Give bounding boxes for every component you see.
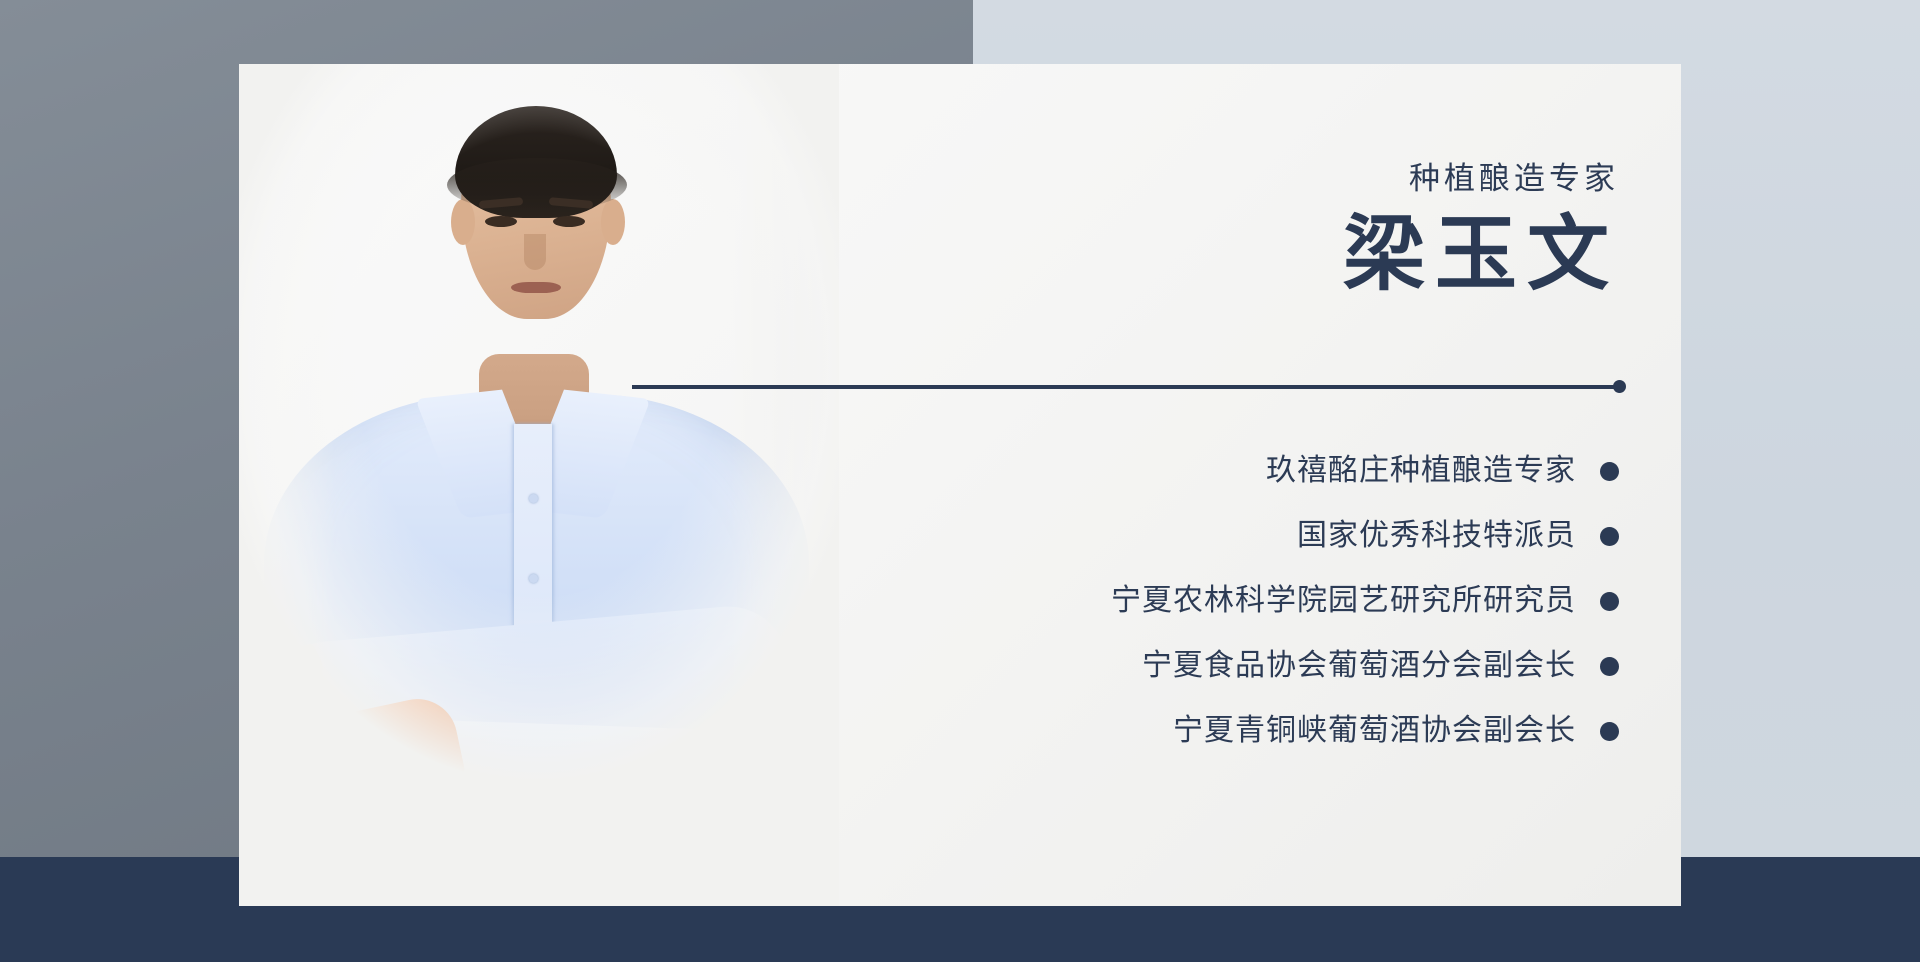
portrait-nose bbox=[524, 234, 546, 270]
banner-stage: 种植酿造专家 梁玉文 玖禧酩庄种植酿造专家 国家优秀科技特派员 宁夏农林科学院园… bbox=[0, 0, 1920, 970]
bullet-dot-icon bbox=[1600, 722, 1619, 741]
credential-label: 宁夏食品协会葡萄酒分会副会长 bbox=[1142, 651, 1576, 681]
headline-block: 种植酿造专家 梁玉文 bbox=[819, 64, 1619, 304]
portrait-eye-left bbox=[485, 216, 517, 227]
portrait-mouth bbox=[511, 282, 561, 293]
portrait-ear-left bbox=[451, 199, 475, 245]
bullet-dot-icon bbox=[1600, 527, 1619, 546]
profile-card: 种植酿造专家 梁玉文 玖禧酩庄种植酿造专家 国家优秀科技特派员 宁夏农林科学院园… bbox=[239, 64, 1681, 906]
list-item: 宁夏食品协会葡萄酒分会副会长 bbox=[719, 639, 1619, 693]
headline-divider-dot-icon bbox=[1613, 380, 1626, 393]
portrait-ear-right bbox=[601, 199, 625, 245]
role-title: 种植酿造专家 bbox=[819, 160, 1619, 197]
list-item: 宁夏农林科学院园艺研究所研究员 bbox=[719, 574, 1619, 628]
background-strip-white bbox=[0, 962, 1920, 970]
credential-label: 国家优秀科技特派员 bbox=[1297, 521, 1576, 551]
credential-label: 宁夏农林科学院园艺研究所研究员 bbox=[1111, 586, 1576, 616]
list-item: 玖禧酩庄种植酿造专家 bbox=[719, 444, 1619, 498]
bullet-dot-icon bbox=[1600, 657, 1619, 676]
list-item: 宁夏青铜峡葡萄酒协会副会长 bbox=[719, 704, 1619, 758]
credential-label: 宁夏青铜峡葡萄酒协会副会长 bbox=[1173, 716, 1576, 746]
portrait-shirt-button bbox=[529, 574, 538, 583]
credential-label: 玖禧酩庄种植酿造专家 bbox=[1266, 456, 1576, 486]
portrait-shirt-button bbox=[529, 494, 538, 503]
headline-divider bbox=[632, 385, 1620, 389]
portrait-eye-right bbox=[553, 216, 585, 227]
credential-list: 玖禧酩庄种植酿造专家 国家优秀科技特派员 宁夏农林科学院园艺研究所研究员 宁夏食… bbox=[719, 444, 1619, 769]
list-item: 国家优秀科技特派员 bbox=[719, 509, 1619, 563]
person-name: 梁玉文 bbox=[819, 207, 1619, 304]
bullet-dot-icon bbox=[1600, 462, 1619, 481]
bullet-dot-icon bbox=[1600, 592, 1619, 611]
